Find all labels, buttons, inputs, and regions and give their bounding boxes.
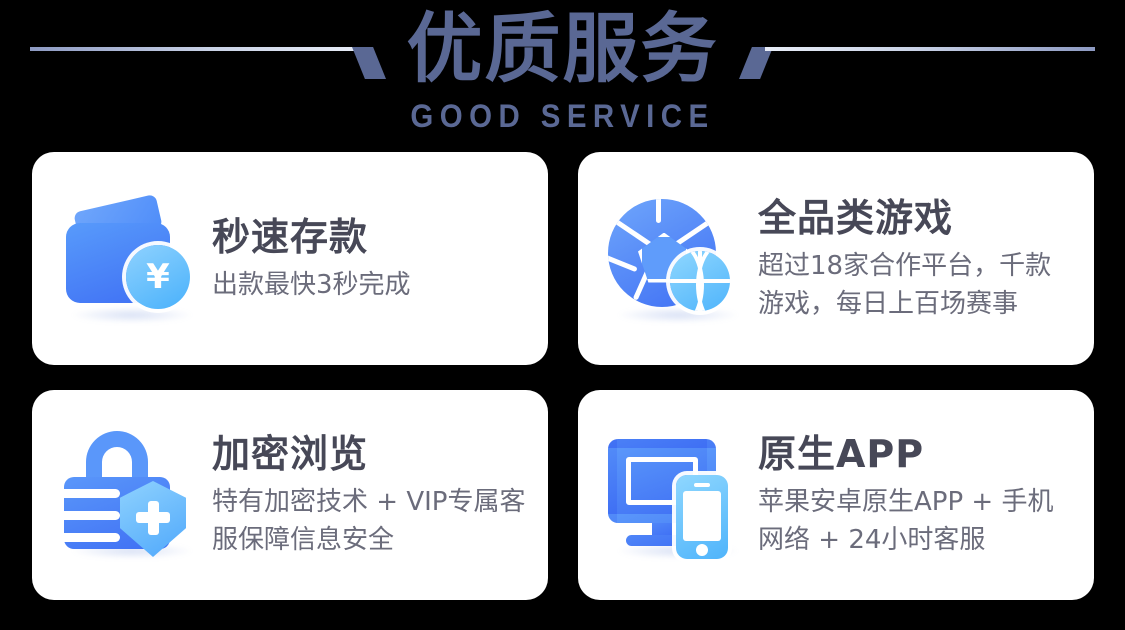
feature-card-text: 秒速存款 出款最快3秒完成 <box>206 214 421 304</box>
page-title: 优质服务 <box>0 6 1125 92</box>
icon-shadow <box>72 307 192 323</box>
basketball-icon <box>670 251 730 311</box>
feature-card-text: 加密浏览 特有加密技术 + VIP专属客 服保障信息安全 <box>206 431 535 559</box>
feature-card-grid: ¥ 秒速存款 出款最快3秒完成 <box>32 152 1094 600</box>
card-subtitle-line: 超过18家合作平台，千款 <box>758 247 1051 285</box>
page-header: 优质服务 GOOD SERVICE <box>0 0 1125 150</box>
feature-card-deposit[interactable]: ¥ 秒速存款 出款最快3秒完成 <box>32 152 548 365</box>
card-title: 加密浏览 <box>212 431 525 477</box>
card-subtitle-line: 特有加密技术 + VIP专属客 <box>212 483 525 521</box>
wallet-yen-icon: ¥ <box>58 189 206 329</box>
card-title: 全品类游戏 <box>758 195 1051 241</box>
card-subtitle-line: 游戏，每日上百场赛事 <box>758 285 1051 323</box>
lock-shield-icon <box>58 425 206 565</box>
feature-card-native-app[interactable]: 原生APP 苹果安卓原生APP + 手机 网络 + 24小时客服 <box>578 390 1094 600</box>
cross-icon <box>136 512 170 523</box>
feature-card-games[interactable]: 全品类游戏 超过18家合作平台，千款 游戏，每日上百场赛事 <box>578 152 1094 365</box>
soccer-basketball-icon <box>604 189 752 329</box>
yen-coin-icon: ¥ <box>126 245 190 309</box>
smartphone-icon <box>676 475 728 559</box>
card-title: 原生APP <box>758 431 1053 477</box>
card-subtitle-line: 苹果安卓原生APP + 手机 <box>758 483 1053 521</box>
card-title: 秒速存款 <box>212 214 411 260</box>
card-subtitle-line: 服保障信息安全 <box>212 521 525 559</box>
feature-card-encryption[interactable]: 加密浏览 特有加密技术 + VIP专属客 服保障信息安全 <box>32 390 548 600</box>
feature-card-text: 全品类游戏 超过18家合作平台，千款 游戏，每日上百场赛事 <box>752 195 1061 323</box>
card-subtitle-line: 网络 + 24小时客服 <box>758 521 1053 559</box>
page-subtitle: GOOD SERVICE <box>45 98 1080 134</box>
monitor-phone-icon <box>604 425 752 565</box>
feature-card-text: 原生APP 苹果安卓原生APP + 手机 网络 + 24小时客服 <box>752 431 1063 559</box>
card-subtitle-line: 出款最快3秒完成 <box>212 266 411 304</box>
